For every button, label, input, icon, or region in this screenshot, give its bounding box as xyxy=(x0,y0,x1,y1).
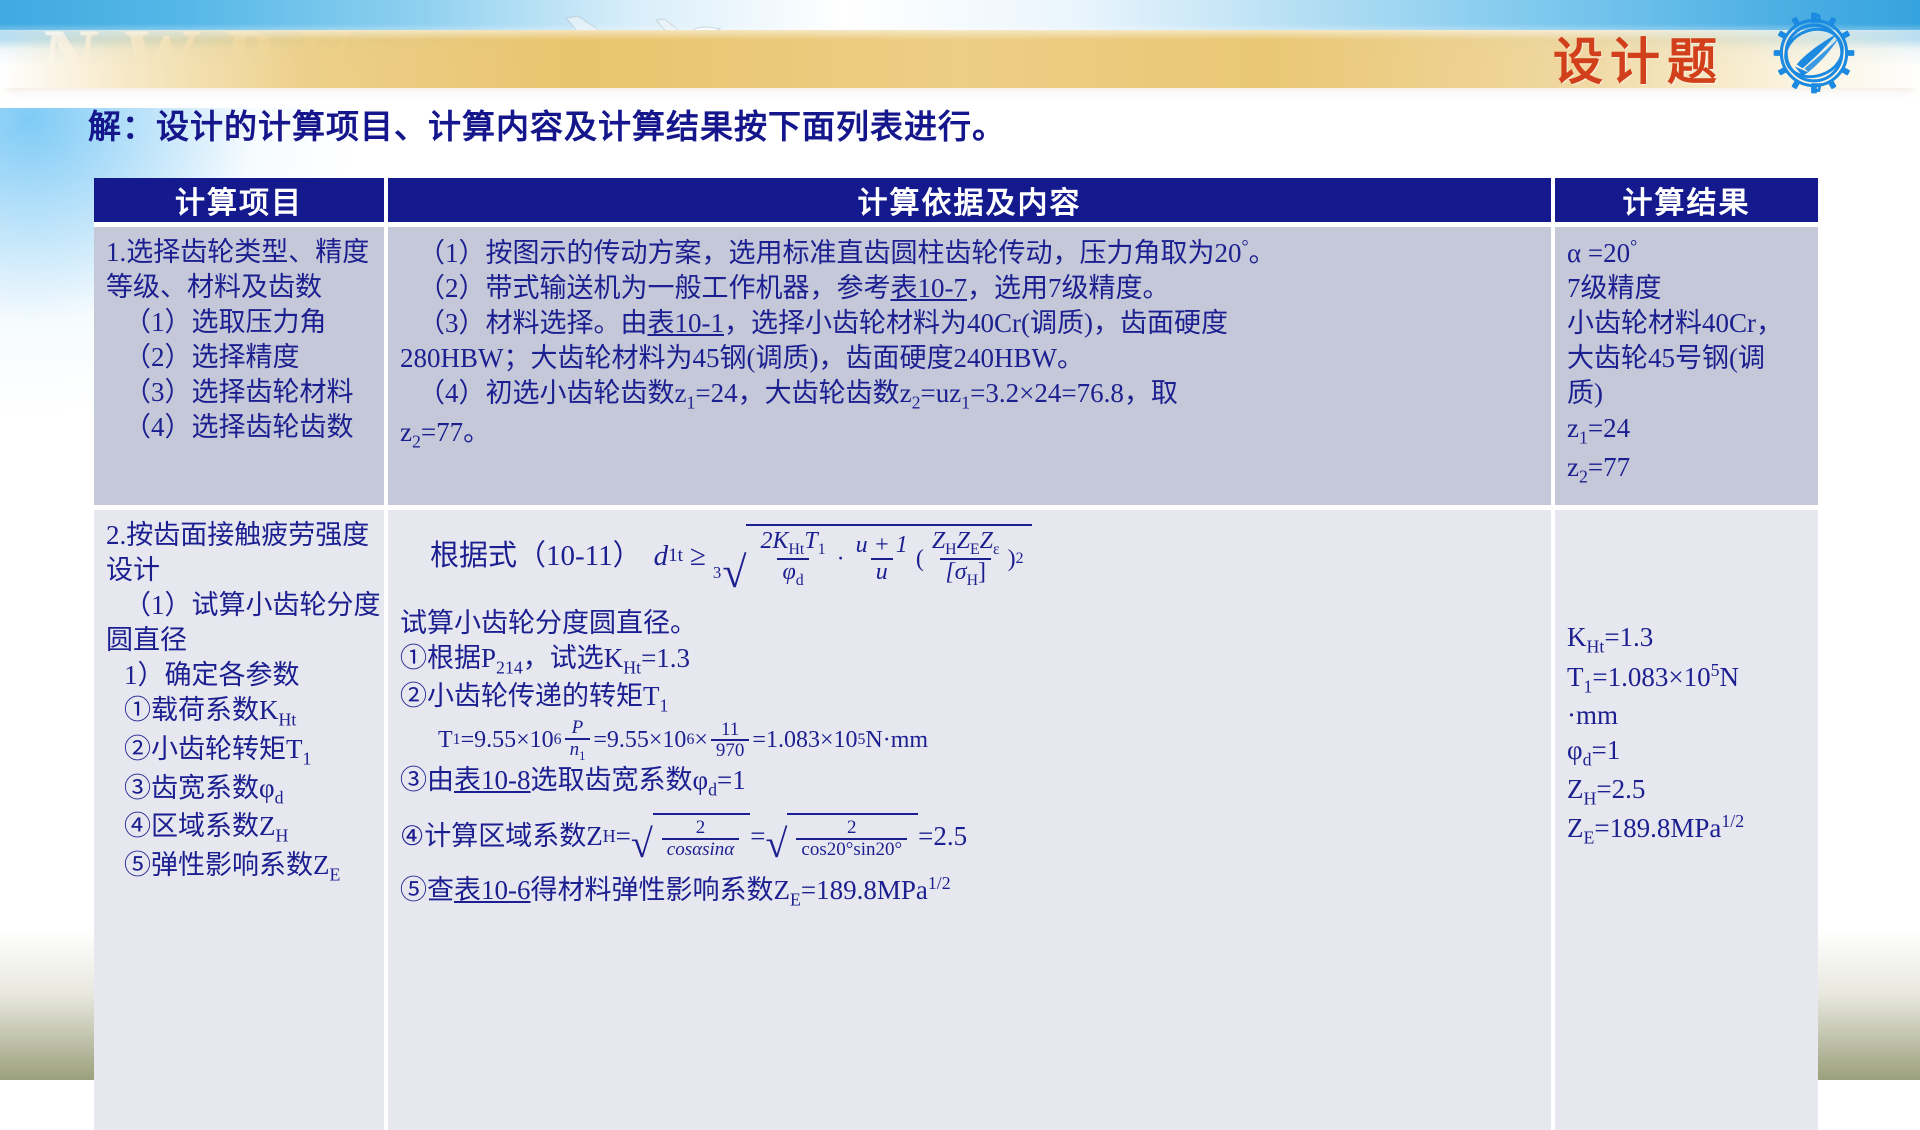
content-text: 查 xyxy=(427,875,454,905)
formula-text: [σ xyxy=(945,559,966,585)
content-text: （2）带式输送机为一般工作机器，参考 xyxy=(418,273,891,303)
link-table-10-8[interactable]: 表10-8 xyxy=(454,765,531,795)
result-precision: 7级精度 xyxy=(1567,271,1808,306)
exponent: 6 xyxy=(686,730,694,751)
result-pinion-material: 小齿轮材料40Cr， xyxy=(1567,306,1808,341)
row2-result-cell: KHt=1.3 T1=1.083×105N ·mm φd=1 ZH=2.5 ZE… xyxy=(1555,505,1818,1130)
content-text: 根据P xyxy=(427,643,496,673)
result-text: =1.083×10 xyxy=(1592,662,1710,692)
result-z1: z1=24 xyxy=(1567,411,1808,450)
table-row: 2.按齿面接触疲劳强度 设计 （1）试算小齿轮分度 圆直径 1）确定各参数 ①载… xyxy=(94,505,1818,1130)
result-text: Z xyxy=(1567,774,1584,804)
formula-text: T xyxy=(804,528,817,554)
sub: 214 xyxy=(496,657,523,677)
formula-text: φ xyxy=(782,559,795,585)
row2-item-line: 设计 xyxy=(106,553,374,588)
row1-item-line: 等级、材料及齿数 xyxy=(106,270,374,305)
sub: E xyxy=(790,890,801,910)
content-text: 由 xyxy=(427,765,454,795)
circled-number-4: ④ xyxy=(124,811,151,841)
param-label: 齿宽系数φ xyxy=(151,773,275,803)
result-text: α =20 xyxy=(1567,238,1630,268)
header-calc-basis: 计算依据及内容 xyxy=(388,178,1555,222)
formula-text: T xyxy=(438,725,453,756)
content-text: 计算区域系数Z xyxy=(424,819,603,854)
equals: = xyxy=(616,819,631,854)
row1-content-cell: （1）按图示的传动方案，选用标准直齿圆柱齿轮传动，压力角取为20°。 （2）带式… xyxy=(388,222,1555,505)
row2-content-cell: 根据式（10-11） d1t ≥ 3 √ 2KHtT1 φd · xyxy=(388,505,1555,1130)
circled-number-3: ③ xyxy=(400,765,427,795)
param-label: 载荷系数K xyxy=(151,695,279,725)
result-text: =77 xyxy=(1588,452,1630,482)
times-symbol: × xyxy=(694,725,708,756)
content-text: ，选用7级精度。 xyxy=(967,273,1170,303)
sub: 2 xyxy=(412,431,421,451)
sub: Ht xyxy=(1587,636,1605,656)
circled-number-5: ⑤ xyxy=(124,850,151,880)
row2-item-1: ①根据P214，试选KHt=1.3 xyxy=(400,641,1541,680)
sub: H xyxy=(276,826,289,846)
sub: Ht xyxy=(279,710,297,730)
content-text: ，试选K xyxy=(523,643,624,673)
row1-item-line: 1.选择齿轮类型、精度 xyxy=(106,235,374,270)
result-text: =24 xyxy=(1588,413,1630,443)
formula-result: =2.5 xyxy=(918,819,967,854)
calculation-table: 计算项目 计算依据及内容 计算结果 1.选择齿轮类型、精度 等级、材料及齿数 （… xyxy=(94,178,1818,1130)
result-z2: z2=77 xyxy=(1567,450,1808,489)
row1-content-line-4: 280HBW；大齿轮材料为45钢(调质)，齿面硬度240HBW。 xyxy=(400,341,1541,376)
sub: Ht xyxy=(623,657,641,677)
result-KHt: KHt=1.3 xyxy=(1567,620,1808,659)
sub: 1 xyxy=(453,730,461,751)
result-text: z xyxy=(1567,452,1579,482)
sub: d xyxy=(1583,750,1592,770)
header-calc-result: 计算结果 xyxy=(1555,178,1818,222)
result-text: z xyxy=(1567,413,1579,443)
row2-line-try: 试算小齿轮分度圆直径。 xyxy=(400,606,1541,641)
table-header-row: 计算项目 计算依据及内容 计算结果 xyxy=(94,178,1818,222)
sub: H xyxy=(945,541,956,558)
row2-item-3: ③由表10-8选取齿宽系数φd=1 xyxy=(400,763,1541,802)
row1-content-line-6: z2=77。 xyxy=(400,415,1541,454)
formula-text: 2K xyxy=(760,528,788,554)
result-text: φ xyxy=(1567,735,1583,765)
sub: 1 xyxy=(303,748,312,768)
formula-text: 2 xyxy=(842,818,862,838)
paren-close: ) xyxy=(1008,544,1016,575)
result-gear-material-cont: 质) xyxy=(1567,376,1808,411)
circled-number-1: ① xyxy=(400,643,427,673)
content-text: 小齿轮传递的转矩T xyxy=(427,681,660,711)
row2-item-param: ①载荷系数KHt xyxy=(106,693,374,732)
row1-item-line: （4）选择齿轮齿数 xyxy=(106,410,374,445)
row1-content-line-3: （3）材料选择。由表10-1，选择小齿轮材料为40Cr(调质)，齿面硬度 xyxy=(400,306,1541,341)
result-phid: φd=1 xyxy=(1567,733,1808,772)
row1-item-cell: 1.选择齿轮类型、精度 等级、材料及齿数 （1）选取压力角 （2）选择精度 （3… xyxy=(94,222,388,505)
content-text: （3）材料选择。由 xyxy=(418,308,648,338)
sub: H xyxy=(967,572,978,589)
link-table-10-6[interactable]: 表10-6 xyxy=(454,875,531,905)
circled-number-2: ② xyxy=(400,681,427,711)
link-table-10-1[interactable]: 表10-1 xyxy=(648,308,725,338)
sub: H xyxy=(1584,788,1597,808)
multiply-dot: · xyxy=(834,544,848,575)
formula-text: 2 xyxy=(691,818,711,838)
content-text: 选取齿宽系数φ xyxy=(531,765,709,795)
formula-text: ] xyxy=(978,559,986,585)
formula-text: N·mm xyxy=(865,725,928,756)
sub: ε xyxy=(993,541,1000,558)
result-alpha: α =20° xyxy=(1567,235,1808,271)
sub: 1 xyxy=(961,393,970,413)
degree-symbol: ° xyxy=(1242,236,1249,256)
result-gear-material: 大齿轮45号钢(调 xyxy=(1567,341,1808,376)
result-text: T xyxy=(1567,662,1584,692)
content-text: ，选择小齿轮材料为40Cr(调质)，齿面硬度 xyxy=(724,308,1228,338)
sub: d xyxy=(275,787,284,807)
row2-item-line: 圆直径 xyxy=(106,623,374,658)
circled-number-5: ⑤ xyxy=(400,875,427,905)
exponent: 1/2 xyxy=(928,873,951,893)
formula-text: P xyxy=(567,718,589,738)
result-T1-unit: ·mm xyxy=(1567,698,1808,733)
param-label: 弹性影响系数Z xyxy=(151,850,330,880)
formula-T1: T1 =9.55×106 P n1 =9.55×106 × 11 970 =1.… xyxy=(400,718,1541,763)
content-text: （1）按图示的传动方案，选用标准直齿圆柱齿轮传动，压力角取为20 xyxy=(418,238,1242,268)
result-ZE: ZE=189.8MPa1/2 xyxy=(1567,810,1808,850)
formula-text: 11 xyxy=(716,720,744,740)
sub: 1 xyxy=(1579,428,1588,448)
exponent: 5 xyxy=(1711,660,1720,680)
param-label: 小齿轮转矩T xyxy=(151,734,303,764)
row1-item-line: （2）选择精度 xyxy=(106,340,374,375)
formula-text: n xyxy=(570,739,580,760)
formula-d1t: 根据式（10-11） d1t ≥ 3 √ 2KHtT1 φd · xyxy=(400,524,1541,590)
result-text: =189.8MPa xyxy=(1594,813,1721,843)
formula-text: Z xyxy=(932,528,945,554)
page-title: 设计题 xyxy=(1553,22,1724,94)
sub: 2 xyxy=(1579,466,1588,486)
row1-content-line-1: （1）按图示的传动方案，选用标准直齿圆柱齿轮传动，压力角取为20°。 xyxy=(400,235,1541,271)
formula-caption: 根据式（10-11） xyxy=(430,538,642,576)
row2-item-param: ④区域系数ZH xyxy=(106,809,374,848)
exponent: 2 xyxy=(1016,549,1024,570)
row1-item-line: （3）选择齿轮材料 xyxy=(106,375,374,410)
exponent: 5 xyxy=(857,730,865,751)
circled-number-2: ② xyxy=(124,734,151,764)
content-text: =1 xyxy=(717,765,746,795)
row2-item-param: ③齿宽系数φd xyxy=(106,771,374,810)
result-text: Z xyxy=(1567,813,1584,843)
row2-item-line: （1）试算小齿轮分度 xyxy=(106,588,374,623)
content-text: =77。 xyxy=(421,417,490,447)
row1-item-line: （1）选取压力角 xyxy=(106,305,374,340)
row2-item-line: 1）确定各参数 xyxy=(106,658,374,693)
content-text: =189.8MPa xyxy=(801,875,928,905)
content-text: =24，大齿轮齿数z xyxy=(695,378,911,408)
formula-text: u + 1 xyxy=(851,533,913,558)
sub: E xyxy=(330,864,341,884)
formula-text: Z xyxy=(957,528,970,554)
content-text: =3.2×24=76.8，取 xyxy=(970,378,1178,408)
formula-lhs: d xyxy=(654,538,669,576)
sub: 1t xyxy=(668,544,683,569)
formula-text: =9.55×10 xyxy=(461,725,554,756)
paren-open: ( xyxy=(916,544,924,575)
sub: E xyxy=(1584,828,1595,848)
content-text: 得材料弹性影响系数Z xyxy=(531,875,791,905)
formula-text: cosαsinα xyxy=(662,838,739,860)
formula-ZH: ④计算区域系数ZH= √ 2 cosαsinα = √ 2 xyxy=(400,813,1541,860)
row2-item-2: ②小齿轮传递的转矩T1 xyxy=(400,679,1541,718)
table-row: 1.选择齿轮类型、精度 等级、材料及齿数 （1）选取压力角 （2）选择精度 （3… xyxy=(94,222,1818,505)
formula-text: cos20°sin20° xyxy=(796,838,907,860)
row1-content-line-2: （2）带式输送机为一般工作机器，参考表10-7，选用7级精度。 xyxy=(400,271,1541,306)
solution-heading: 解：设计的计算项目、计算内容及计算结果按下面列表进行。 xyxy=(88,100,1006,148)
ge-symbol: ≥ xyxy=(683,538,713,576)
exponent: 6 xyxy=(554,730,562,751)
link-table-10-7[interactable]: 表10-7 xyxy=(891,273,968,303)
sub: 1 xyxy=(660,696,669,716)
exponent: 1/2 xyxy=(1721,811,1744,831)
result-T1: T1=1.083×105N xyxy=(1567,659,1808,699)
sub: 2 xyxy=(912,393,921,413)
sub: H xyxy=(603,825,616,848)
row2-item-param: ⑤弹性影响系数ZE xyxy=(106,848,374,887)
result-text: =1.3 xyxy=(1604,622,1653,652)
sub: d xyxy=(708,779,717,799)
equals: = xyxy=(750,819,765,854)
sub: Ht xyxy=(788,541,804,558)
sub: 1 xyxy=(579,749,585,763)
sub: E xyxy=(970,541,980,558)
row2-item-line: 2.按齿面接触疲劳强度 xyxy=(106,518,374,553)
sub: 1 xyxy=(818,541,826,558)
content-text: 。 xyxy=(1249,238,1276,268)
circled-number-1: ① xyxy=(124,695,151,725)
result-text: =2.5 xyxy=(1596,774,1645,804)
formula-text: Z xyxy=(980,528,993,554)
formula-text: =1.083×10 xyxy=(752,725,857,756)
result-ZH: ZH=2.5 xyxy=(1567,772,1808,811)
row1-result-cell: α =20° 7级精度 小齿轮材料40Cr， 大齿轮45号钢(调 质) z1=2… xyxy=(1555,222,1818,505)
content-text: =1.3 xyxy=(641,643,690,673)
root-index: 3 xyxy=(713,562,722,584)
header-calc-item: 计算项目 xyxy=(94,178,388,222)
result-text: K xyxy=(1567,622,1587,652)
param-label: 区域系数Z xyxy=(151,811,276,841)
content-text: （4）初选小齿轮齿数z xyxy=(418,378,686,408)
sub: d xyxy=(796,572,804,589)
degree-symbol: ° xyxy=(1630,236,1637,256)
nwpu-gear-logo xyxy=(1766,5,1862,101)
content-text: z xyxy=(400,417,412,447)
row2-item-5: ⑤查表10-6得材料弹性影响系数ZE=189.8MPa1/2 xyxy=(400,872,1541,912)
circled-number-4: ④ xyxy=(400,819,424,854)
result-text: =1 xyxy=(1592,735,1621,765)
circled-number-3: ③ xyxy=(124,773,151,803)
content-text: =uz xyxy=(921,378,962,408)
result-text: N xyxy=(1720,662,1740,692)
row2-item-param: ②小齿轮转矩T1 xyxy=(106,732,374,771)
formula-text: =9.55×10 xyxy=(593,725,686,756)
formula-text: u xyxy=(871,558,893,585)
top-banner: NWPU 设计题 xyxy=(0,0,1920,108)
formula-text: 970 xyxy=(711,739,750,761)
row1-content-line-5: （4）初选小齿轮齿数z1=24，大齿轮齿数z2=uz1=3.2×24=76.8，… xyxy=(400,376,1541,415)
row2-item-cell: 2.按齿面接触疲劳强度 设计 （1）试算小齿轮分度 圆直径 1）确定各参数 ①载… xyxy=(94,505,388,1130)
